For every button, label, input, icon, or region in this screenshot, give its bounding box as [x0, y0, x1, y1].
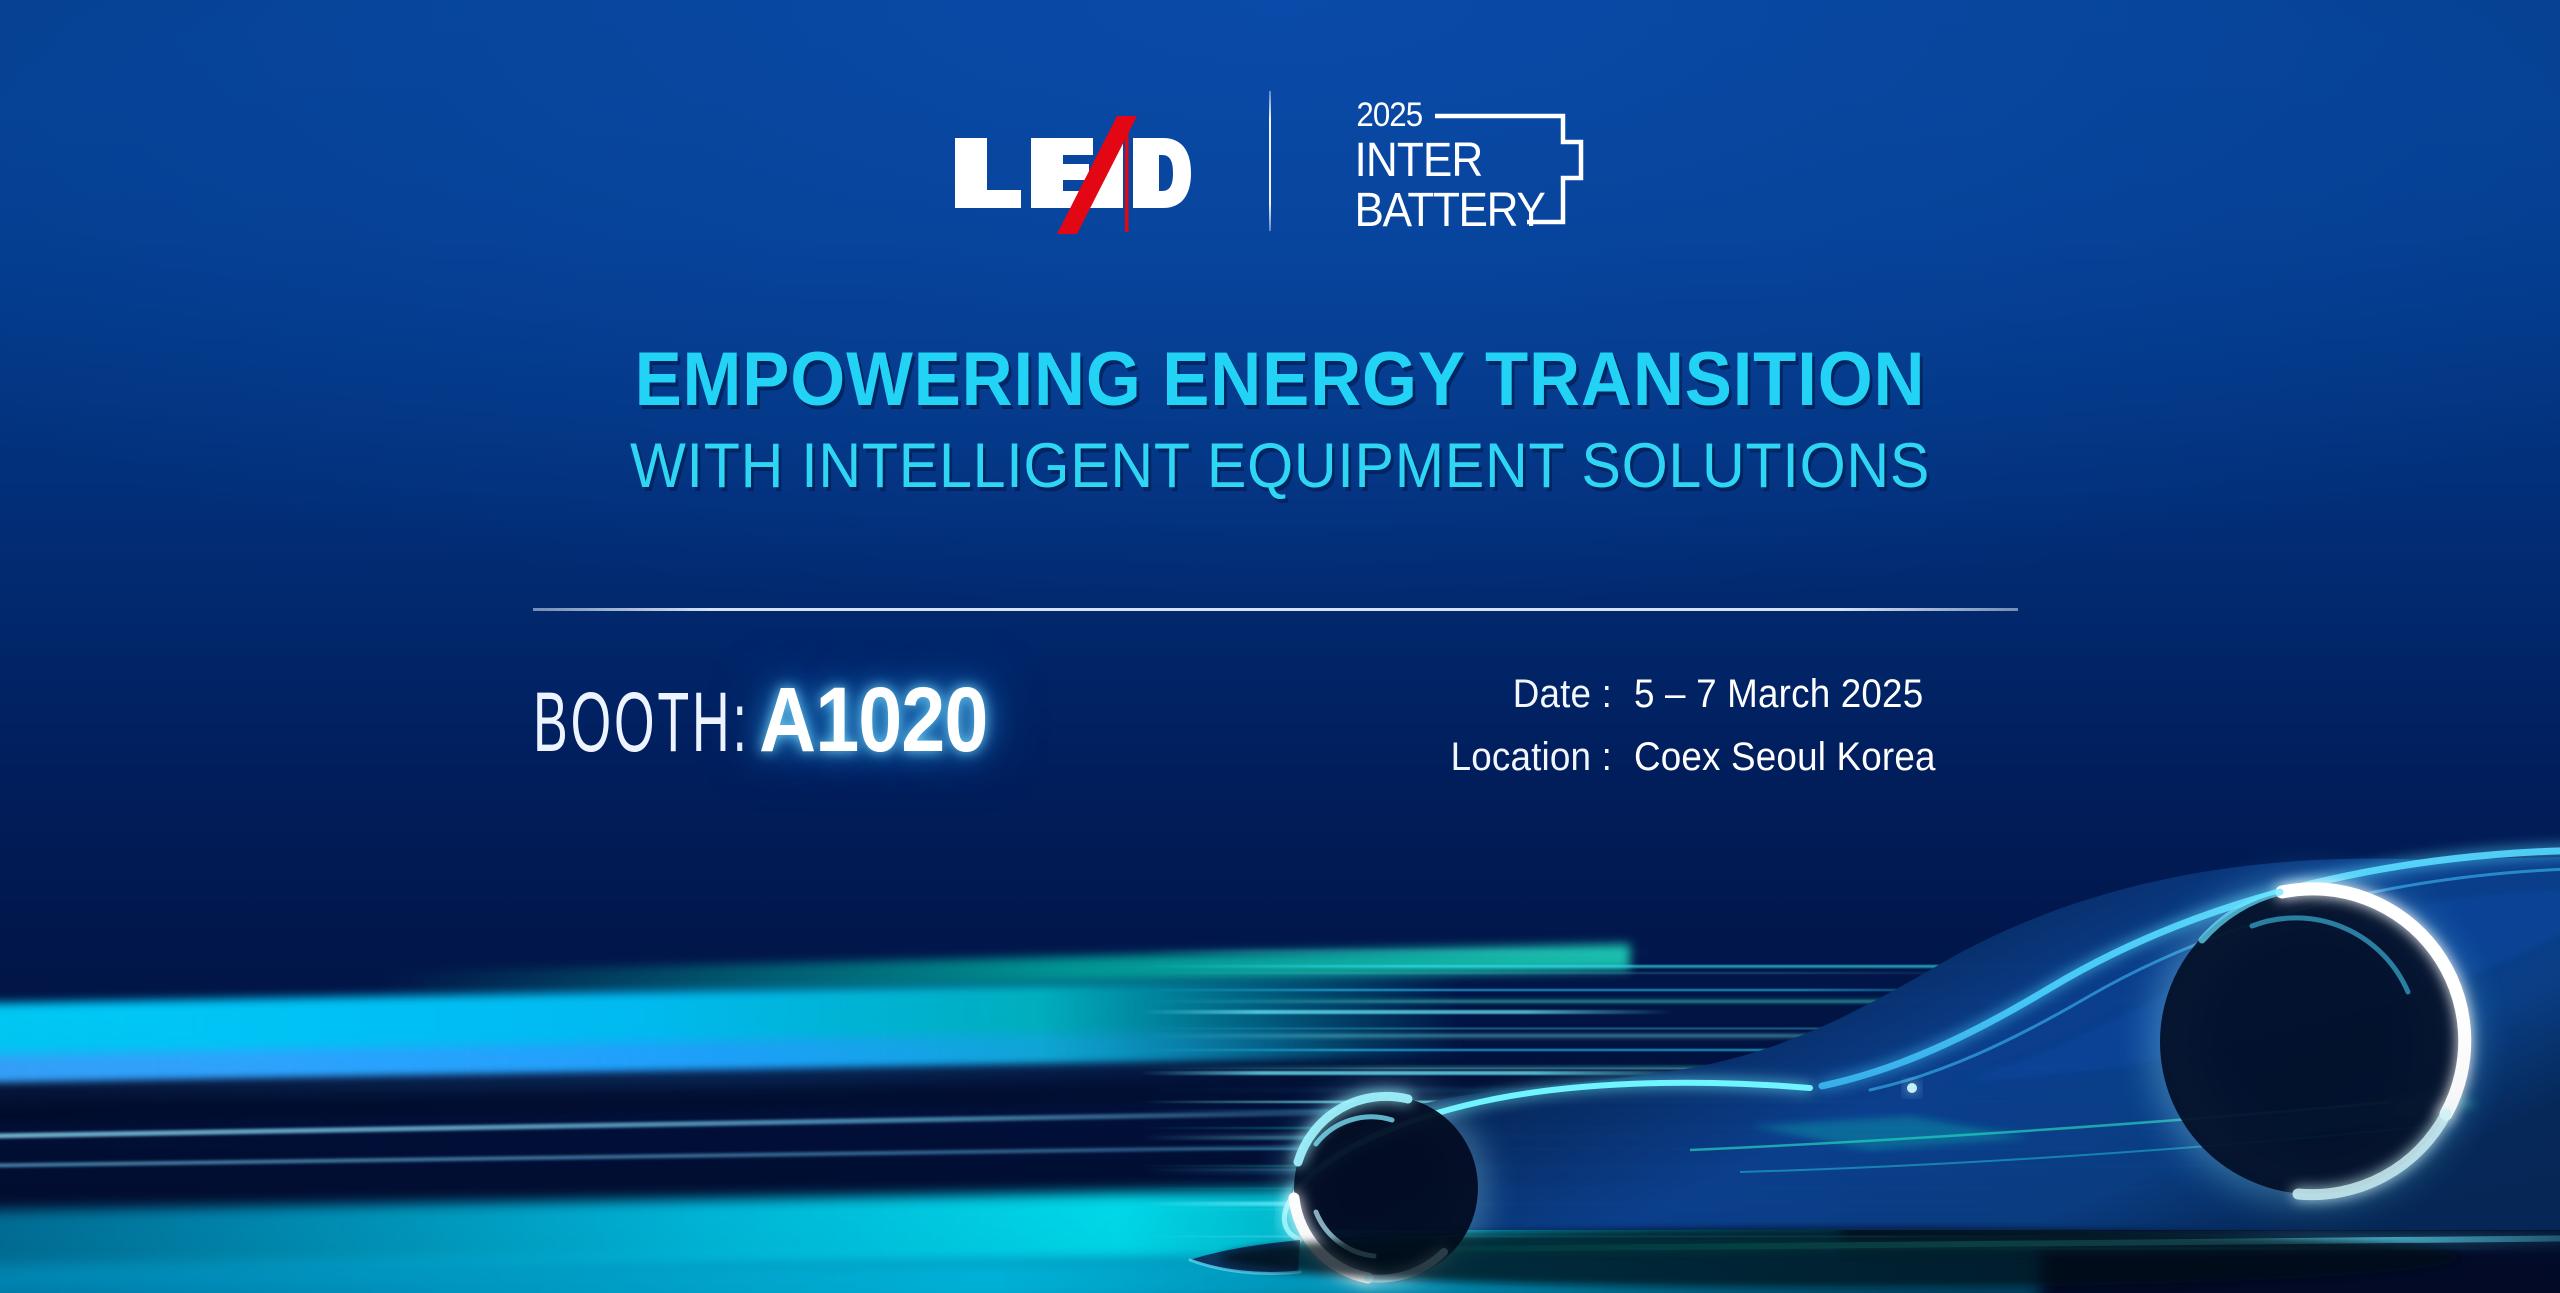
page-title: EMPOWERING ENERGY TRANSITION — [90, 340, 2471, 419]
svg-text:BATTERY: BATTERY — [1355, 182, 1546, 236]
detail-row-location: Location : Coex Seoul Korea — [1364, 735, 2014, 780]
interbattery-logo[interactable]: 2025 INTER BATTERY — [1349, 86, 1619, 236]
page-subtitle: WITH INTELLIGENT EQUIPMENT SOLUTIONS — [77, 433, 2483, 499]
booth-block: BOOTH: A1020 — [533, 662, 1024, 773]
detail-row-date: Date : 5 – 7 March 2025 — [1364, 672, 2014, 717]
info-bar: BOOTH: A1020 Date : 5 – 7 March 2025 Loc… — [533, 662, 2018, 822]
booth-number: A1020 — [759, 668, 987, 773]
copy-block: EMPOWERING ENERGY TRANSITION WITH INTELL… — [0, 340, 2560, 499]
detail-key-location: Location : — [1384, 735, 1612, 780]
logo-separator — [1269, 91, 1271, 231]
detail-value-location: Coex Seoul Korea — [1634, 735, 1984, 780]
detail-value-date: 5 – 7 March 2025 — [1634, 672, 1984, 717]
lead-logo[interactable] — [941, 86, 1191, 236]
detail-key-date: Date : — [1384, 672, 1612, 717]
logo-row: 2025 INTER BATTERY — [0, 86, 2560, 236]
svg-text:2025: 2025 — [1356, 95, 1422, 134]
electric-car-illustration — [1050, 820, 2560, 1293]
booth-label: BOOTH: — [533, 674, 750, 771]
banner-stage: 2025 INTER BATTERY EMPOWERING ENERGY TRA… — [0, 0, 2560, 1293]
divider-rule — [533, 608, 2018, 611]
svg-text:INTER: INTER — [1355, 132, 1483, 186]
event-details: Date : 5 – 7 March 2025 Location : Coex … — [1364, 662, 2018, 780]
